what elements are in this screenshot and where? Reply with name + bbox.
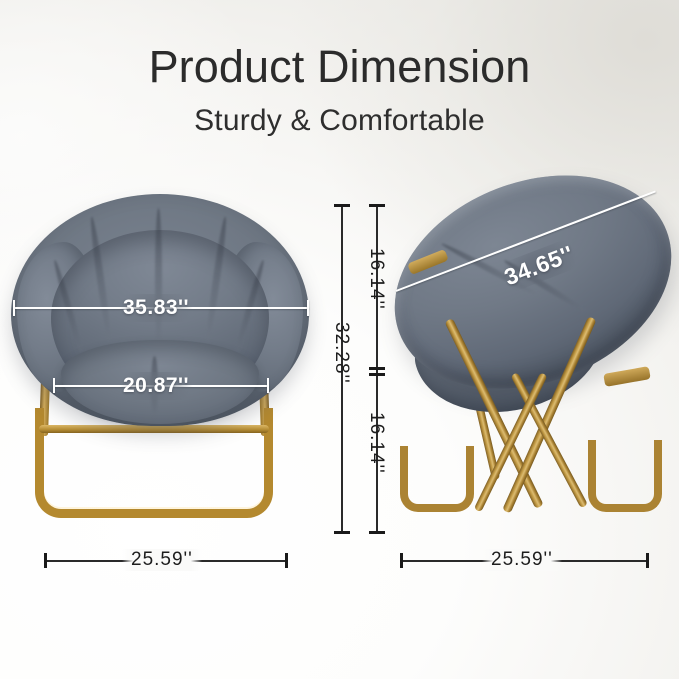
measure-cap-front-base-left (44, 553, 47, 568)
dimension-label-lower-height: 16.14'' (365, 412, 387, 474)
measure-cap-seat-width-right (267, 378, 269, 393)
measure-cap-overall-height-bottom (334, 531, 350, 534)
measure-cap-overall-width-right (307, 300, 309, 316)
measure-cap-side-base-left (400, 553, 403, 568)
front-cross-bar (39, 425, 269, 433)
dimension-label-front-base-depth: 25.59'' (122, 549, 202, 571)
page-subtitle: Sturdy & Comfortable (0, 106, 679, 136)
page-title: Product Dimension (0, 44, 679, 89)
side-foot-front (400, 446, 474, 512)
chair-side-view: 34.65'' (392, 178, 677, 548)
measure-cap-split-middle (369, 367, 385, 370)
header: Product Dimension Sturdy & Comfortable (0, 0, 679, 136)
side-hinge-bracket-bottom (603, 366, 651, 387)
measure-cap-split-top (369, 204, 385, 207)
dimension-label-overall-width: 35.83'' (115, 294, 197, 322)
measure-cap-overall-width-left (13, 300, 15, 316)
dimension-label-overall-height: 32.28'' (330, 322, 352, 384)
measure-cap-side-base-right (646, 553, 649, 568)
measure-cap-front-base-right (285, 553, 288, 568)
dimension-label-side-base-depth: 25.59'' (482, 549, 562, 571)
tuft-seam-2 (155, 208, 162, 348)
measure-cap-overall-height-top (334, 204, 350, 207)
chair-front-view: 35.83'' 20.87'' (5, 180, 320, 545)
measure-cap-seat-width-left (53, 378, 55, 393)
measure-cap-split-middle-2 (369, 373, 385, 376)
measure-cap-split-bottom (369, 531, 385, 534)
dimension-label-upper-height: 16.14'' (365, 248, 387, 310)
dimension-label-seat-width: 20.87'' (115, 372, 197, 400)
side-foot-back (588, 440, 662, 512)
